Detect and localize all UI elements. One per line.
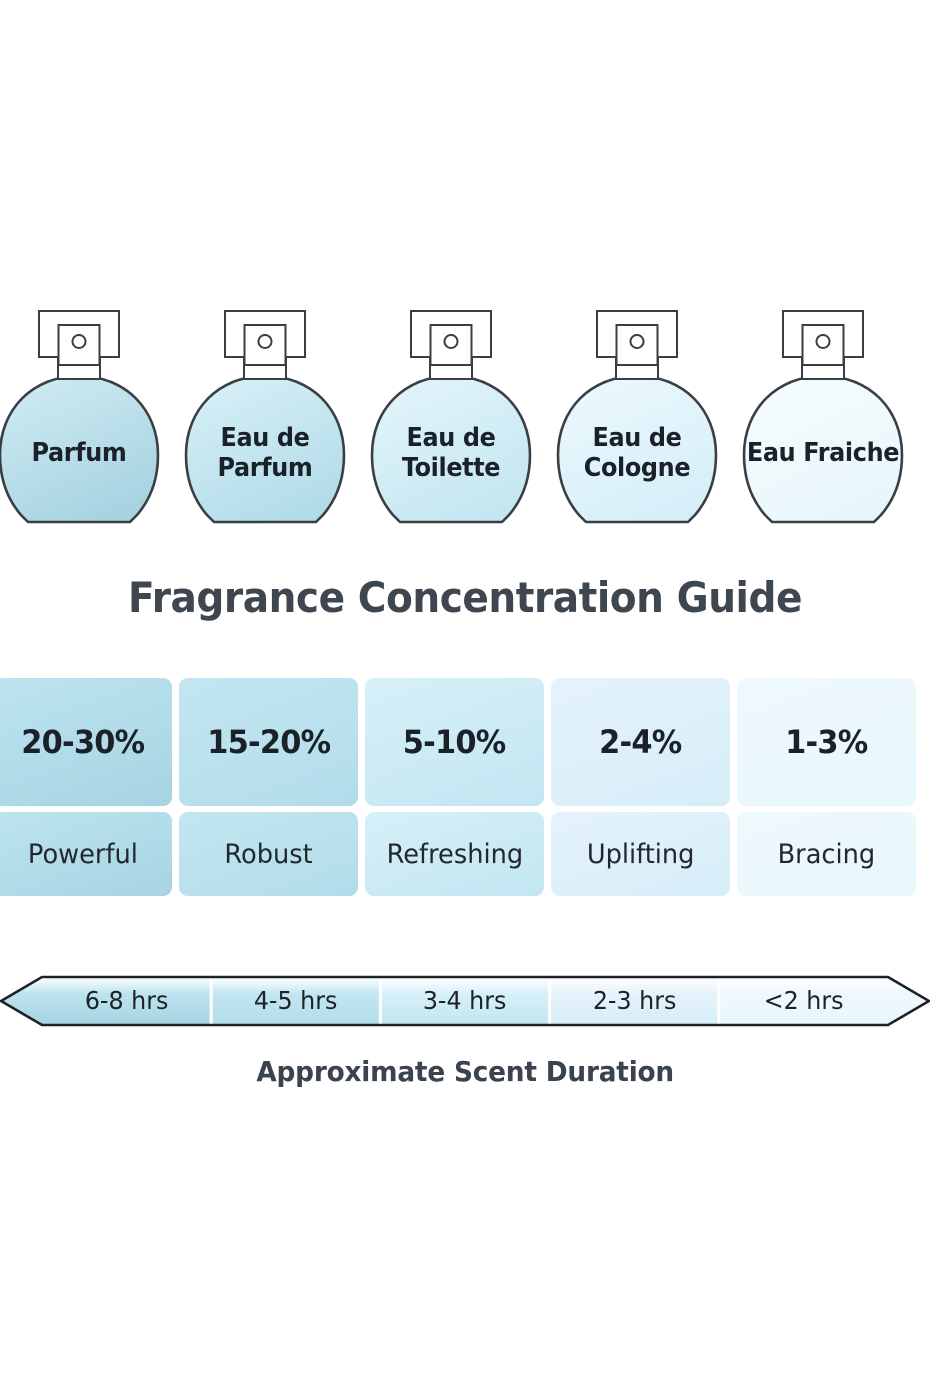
spray-hole-icon (72, 334, 87, 349)
bottle-body (367, 373, 535, 533)
duration-value: <2 hrs (723, 975, 884, 1025)
descriptor-cell: Bracing (737, 812, 916, 896)
duration-caption: Approximate Scent Duration (0, 1055, 930, 1093)
concentration-cell: 5-10% (365, 678, 544, 806)
duration-caption-text: Approximate Scent Duration (256, 1055, 674, 1088)
concentration-value: 20-30% (21, 723, 144, 761)
duration-value: 2-3 hrs (554, 975, 715, 1025)
fragrance-bottle: Eau de Toilette (366, 300, 536, 536)
spray-hole-icon (630, 334, 645, 349)
bottle-body (739, 373, 907, 533)
fragrance-bottle: Parfum (0, 300, 164, 536)
descriptor-value: Robust (224, 839, 312, 870)
concentration-column: 2-4%Uplifting (551, 678, 737, 896)
concentration-value: 5-10% (403, 723, 506, 761)
descriptor-value: Powerful (28, 839, 138, 870)
descriptor-value: Bracing (778, 839, 876, 870)
concentration-grid: 20-30%Powerful15-20%Robust5-10%Refreshin… (0, 678, 930, 896)
scent-duration-bar: 6-8 hrs4-5 hrs3-4 hrs2-3 hrs<2 hrs (0, 975, 930, 1029)
bottle-body (0, 373, 163, 533)
concentration-column: 1-3%Bracing (737, 678, 923, 896)
descriptor-value: Refreshing (386, 839, 523, 870)
concentration-column: 20-30%Powerful (0, 678, 179, 896)
concentration-value: 2-4% (599, 723, 681, 761)
concentration-cell: 20-30% (0, 678, 172, 806)
fragrance-bottles-row: ParfumEau de ParfumEau de ToiletteEau de… (0, 300, 930, 540)
concentration-cell: 2-4% (551, 678, 730, 806)
fragrance-bottle: Eau de Parfum (180, 300, 350, 536)
concentration-column: 5-10%Refreshing (365, 678, 551, 896)
descriptor-cell: Powerful (0, 812, 172, 896)
spray-hole-icon (444, 334, 459, 349)
concentration-value: 1-3% (785, 723, 867, 761)
duration-labels: 6-8 hrs4-5 hrs3-4 hrs2-3 hrs<2 hrs (0, 975, 930, 1027)
duration-value: 6-8 hrs (46, 975, 207, 1025)
descriptor-value: Uplifting (587, 839, 695, 870)
duration-value: 3-4 hrs (385, 975, 546, 1025)
page-title: Fragrance Concentration Guide (33, 573, 898, 622)
concentration-column: 15-20%Robust (179, 678, 365, 896)
descriptor-cell: Uplifting (551, 812, 730, 896)
duration-value: 4-5 hrs (215, 975, 376, 1025)
bottle-body (181, 373, 349, 533)
concentration-cell: 1-3% (737, 678, 916, 806)
concentration-value: 15-20% (207, 723, 330, 761)
spray-hole-icon (816, 334, 831, 349)
bottle-body (553, 373, 721, 533)
descriptor-cell: Refreshing (365, 812, 544, 896)
descriptor-cell: Robust (179, 812, 358, 896)
spray-hole-icon (258, 334, 273, 349)
fragrance-bottle: Eau de Cologne (552, 300, 722, 536)
concentration-cell: 15-20% (179, 678, 358, 806)
fragrance-bottle: Eau Fraiche (738, 300, 908, 536)
